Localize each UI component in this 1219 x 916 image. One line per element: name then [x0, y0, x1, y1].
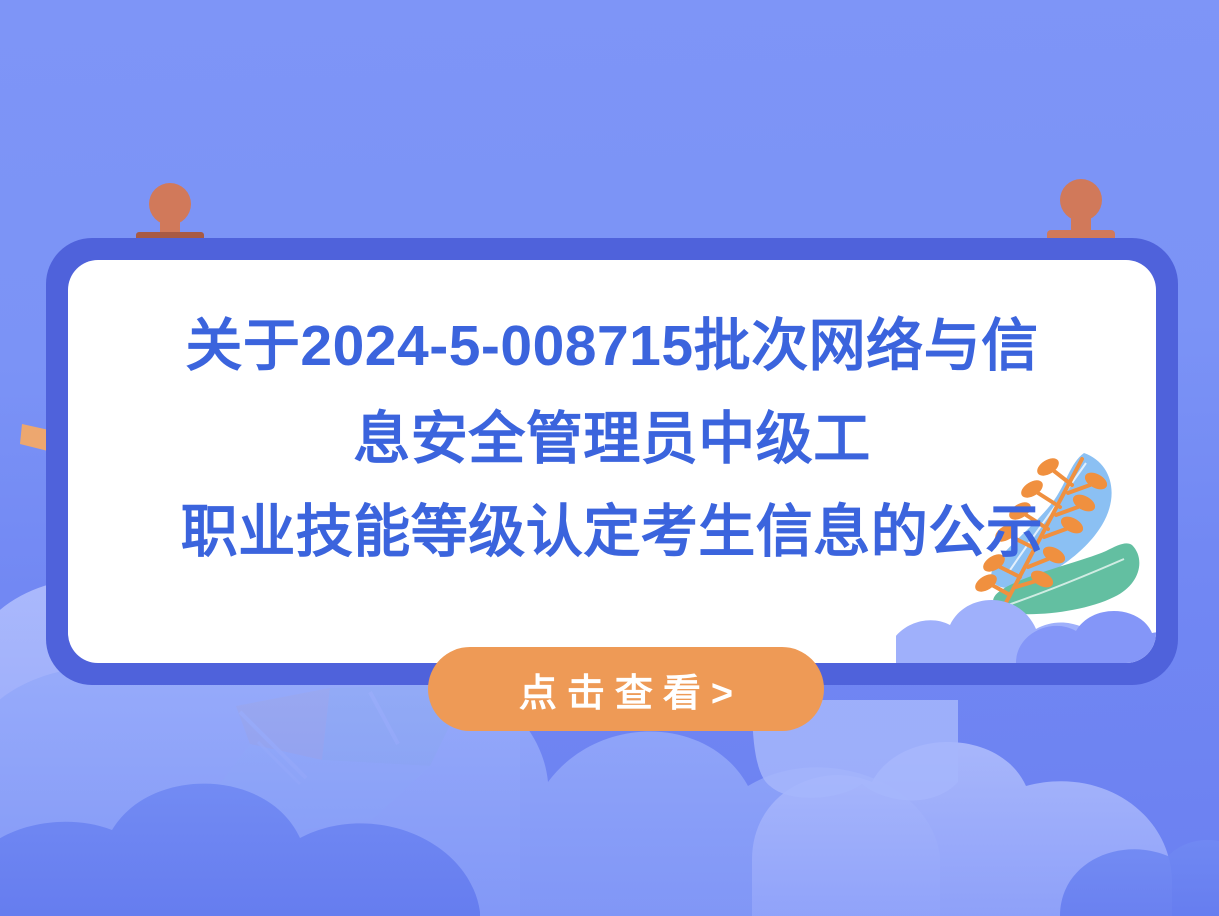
view-details-button[interactable]: 点击查看> [428, 647, 824, 731]
page-title-line-3: 职业技能等级认定考生信息的公示 [68, 486, 1156, 579]
poster-canvas: 关于2024-5-008715批次网络与信 息安全管理员中级工 职业技能等级认定… [0, 0, 1219, 916]
page-title-line-2: 息安全管理员中级工 [68, 393, 1156, 486]
page-title-line-1: 关于2024-5-008715批次网络与信 [68, 300, 1156, 393]
page-title: 关于2024-5-008715批次网络与信 息安全管理员中级工 职业技能等级认定… [68, 300, 1156, 579]
card-clouds [896, 600, 1156, 663]
